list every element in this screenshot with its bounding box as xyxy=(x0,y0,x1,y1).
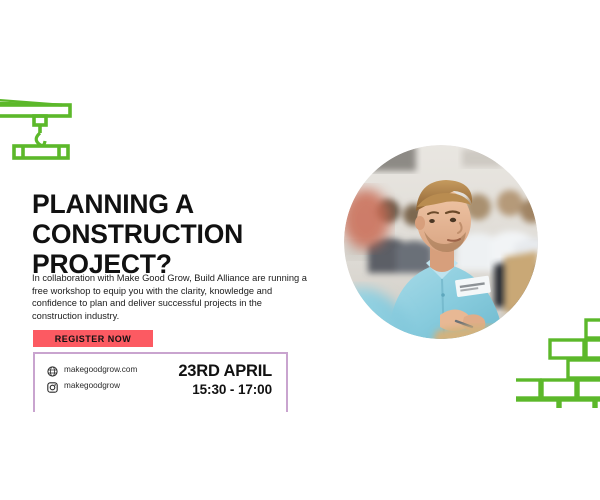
contact-website[interactable]: makegoodgrow.com xyxy=(47,364,137,375)
headline-line-1: PLANNING A xyxy=(32,189,332,219)
event-date: 23RD APRIL xyxy=(178,362,272,381)
contact-list: makegoodgrow.com makegoodgrow xyxy=(47,362,137,391)
page-title: PLANNING A CONSTRUCTION PROJECT? xyxy=(32,189,332,279)
instagram-icon xyxy=(47,380,58,391)
event-details-box: makegoodgrow.com makegoodgrow 23RD APRIL xyxy=(33,352,288,412)
body-paragraph: In collaboration with Make Good Grow, Bu… xyxy=(32,272,309,322)
register-now-button[interactable]: REGISTER NOW xyxy=(33,330,153,347)
contact-website-label: makegoodgrow.com xyxy=(64,364,137,375)
crane-icon xyxy=(0,86,100,166)
contact-instagram-label: makegoodgrow xyxy=(64,380,120,391)
event-datetime: 23RD APRIL 15:30 - 17:00 xyxy=(178,362,274,399)
globe-icon xyxy=(47,364,58,375)
event-poster: PLANNING A CONSTRUCTION PROJECT? In coll… xyxy=(0,0,600,500)
contact-instagram[interactable]: makegoodgrow xyxy=(47,380,137,391)
workshop-photo xyxy=(344,145,538,339)
headline-line-2: CONSTRUCTION xyxy=(32,219,332,249)
brick-wall-icon xyxy=(516,316,600,408)
event-time: 15:30 - 17:00 xyxy=(178,381,272,399)
